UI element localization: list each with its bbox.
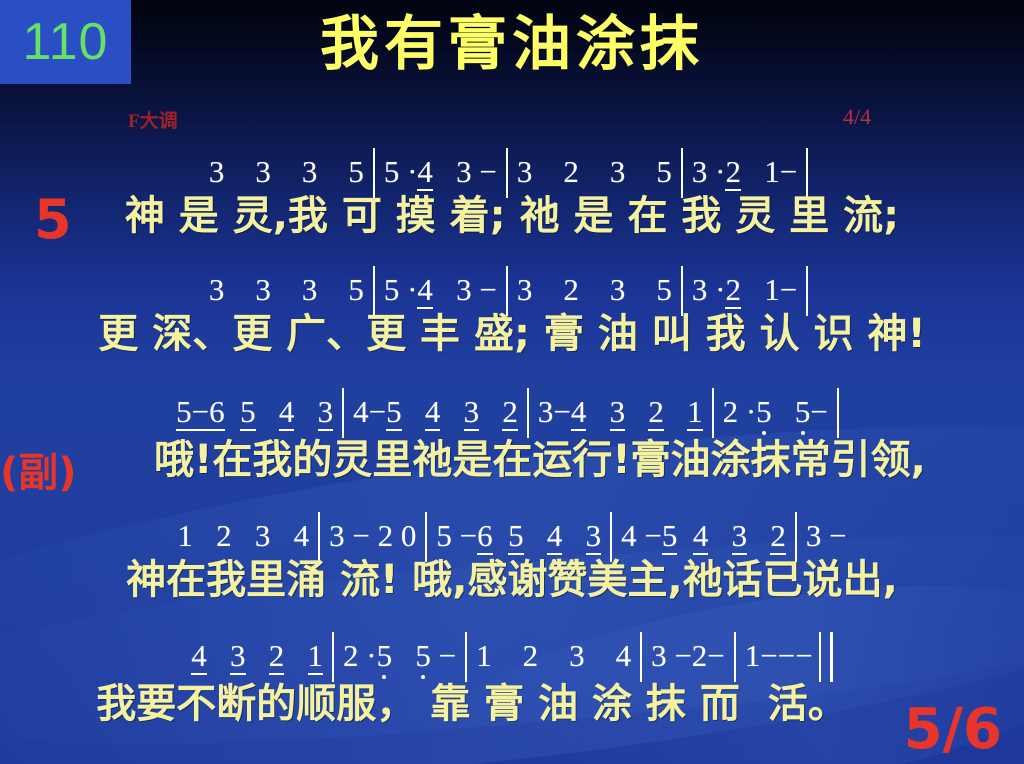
lyrics-line-1: 神 是 灵,我 可 摸 着; 祂 是 在 我 灵 里 流; [0,196,1024,236]
music-system-4: 1 2 3 43 − 2 05 −6 5 4 34 −5 4 3 23 − [0,512,1024,562]
notation-line-2: 3 3 3 55 ·4 3 −3 2 3 53 ·2 1− [0,266,1024,316]
lyrics-row-3: 哦!在我的灵里祂是在运行!膏油涂抹常引领, [0,440,1024,480]
page-indicator: 5/6 [904,702,1002,758]
lyrics-line-2: 更 深、更 广、更 丰 盛; 膏 油 叫 我 认 识 神! [0,314,1024,354]
lyrics-row-5: 我要不断的顺服， 靠 膏 油 涂 抹 而 活。 [0,684,1024,724]
music-system-2: 3 3 3 55 ·4 3 −3 2 3 53 ·2 1− [0,266,1024,316]
notation-line-1: 3 3 3 55 ·4 3 −3 2 3 53 ·2 1− [0,148,1024,198]
music-system-1: 3 3 3 55 ·4 3 −3 2 3 53 ·2 1− [0,148,1024,198]
slide-canvas: 110 我有膏油涂抹 F大调 4/4 5 (副) 3 3 3 55 ·4 3 −… [0,0,1024,764]
key-signature: F大调 [128,106,178,133]
time-signature: 4/4 [843,104,871,130]
lyrics-row-1: 神 是 灵,我 可 摸 着; 祂 是 在 我 灵 里 流; [0,196,1024,236]
lyrics-line-3: 哦!在我的灵里祂是在运行!膏油涂抹常引领, [0,440,1024,480]
lyrics-line-4: 神在我里涌 流! 哦,感谢赞美主,祂话已说出, [0,560,1024,600]
lyrics-line-5: 我要不断的顺服， 靠 膏 油 涂 抹 而 活。 [0,684,1024,724]
lyrics-row-2: 更 深、更 广、更 丰 盛; 膏 油 叫 我 认 识 神! [0,314,1024,354]
notation-line-4: 1 2 3 43 − 2 05 −6 5 4 34 −5 4 3 23 − [0,512,1024,562]
music-system-5: 4 3 2 12 ·5 5 −1 2 3 43 −2−1−−− [0,632,1024,682]
notation-line-5: 4 3 2 12 ·5 5 −1 2 3 43 −2−1−−− [0,632,1024,682]
notation-line-3: 5−6 5 4 34−5 4 3 23−4 3 2 12 ·5 5− [0,388,1024,438]
lyrics-row-4: 神在我里涌 流! 哦,感谢赞美主,祂话已说出, [0,560,1024,600]
music-system-3: 5−6 5 4 34−5 4 3 23−4 3 2 12 ·5 5− [0,388,1024,438]
page-title: 我有膏油涂抹 [0,14,1024,73]
